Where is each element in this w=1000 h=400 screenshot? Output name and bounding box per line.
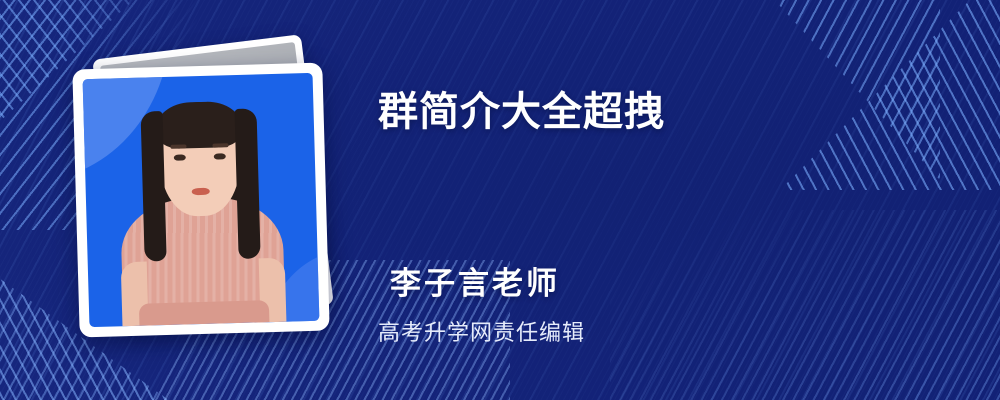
portrait-eye-left [174,154,186,160]
author-name: 李子言老师 [390,268,560,299]
page-title: 群简介大全超拽 [378,92,665,132]
portrait-eyebrow-left [170,144,186,148]
author-photo [83,73,320,327]
author-banner: 群简介大全超拽 李子言老师 高考升学网责任编辑 [0,0,1000,400]
portrait-hair-strand-right [234,108,260,259]
portrait-illustration [83,73,320,327]
portrait-eyebrow-right [212,143,228,147]
banner-text-column: 群简介大全超拽 李子言老师 高考升学网责任编辑 [378,0,938,400]
author-photo-card [72,63,329,338]
portrait-waistband [139,300,270,326]
photo-stack [70,46,340,346]
portrait-eye-right [214,153,226,159]
portrait-hair-fringe [154,101,243,149]
portrait-hair-strand-left [141,111,167,262]
portrait-mouth [192,188,210,195]
author-role: 高考升学网责任编辑 [378,322,585,344]
